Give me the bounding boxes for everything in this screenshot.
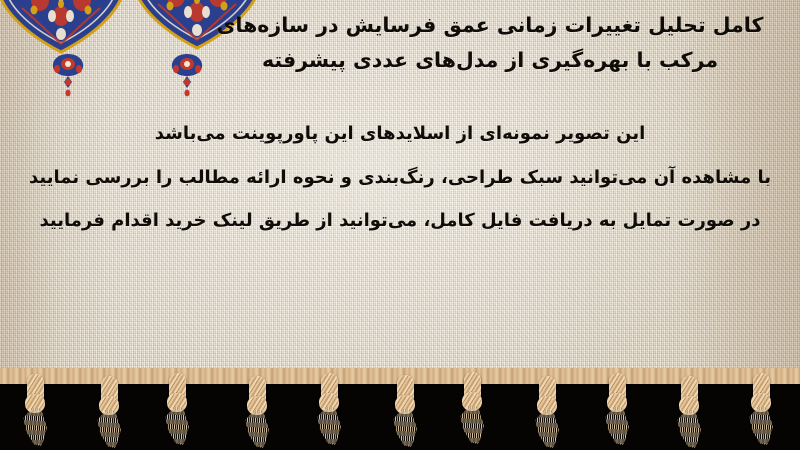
slide-body-line-2: با مشاهده آن می‌توانید سبک طراحی، رنگ‌بن… xyxy=(16,156,784,199)
slide-body: این تصویر نمونه‌ای از اسلایدهای این پاور… xyxy=(0,112,800,242)
fringe-tassel xyxy=(600,371,634,445)
presentation-slide: کامل تحلیل تغییرات زمانی عمق فرسایش در س… xyxy=(0,0,800,450)
fringe-tassel xyxy=(672,374,706,448)
slide-body-line-3: در صورت تمایل به دریافت فایل کامل، می‌تو… xyxy=(16,199,784,242)
fringe-tassel xyxy=(455,370,489,444)
fringe-tassel xyxy=(240,374,274,448)
slide-title-line-2: مرکب با بهره‌گیری از مدل‌های عددی پیشرفت… xyxy=(262,48,718,72)
fringe-tassel xyxy=(388,373,422,447)
carpet-fringe-tassels xyxy=(0,368,800,450)
slide-text-layer: کامل تحلیل تغییرات زمانی عمق فرسایش در س… xyxy=(0,0,800,375)
fringe-tassel xyxy=(744,371,778,445)
slide-body-line-1: این تصویر نمونه‌ای از اسلایدهای این پاور… xyxy=(16,112,784,155)
fringe-tassel xyxy=(18,372,52,446)
fringe-tassel xyxy=(530,374,564,448)
slide-title-line-1: کامل تحلیل تغییرات زمانی عمق فرسایش در س… xyxy=(217,13,764,37)
slide-title: کامل تحلیل تغییرات زمانی عمق فرسایش در س… xyxy=(0,8,800,78)
fringe-tassel xyxy=(312,371,346,445)
fringe-tassel xyxy=(92,374,126,448)
fringe-tassel xyxy=(160,371,194,445)
